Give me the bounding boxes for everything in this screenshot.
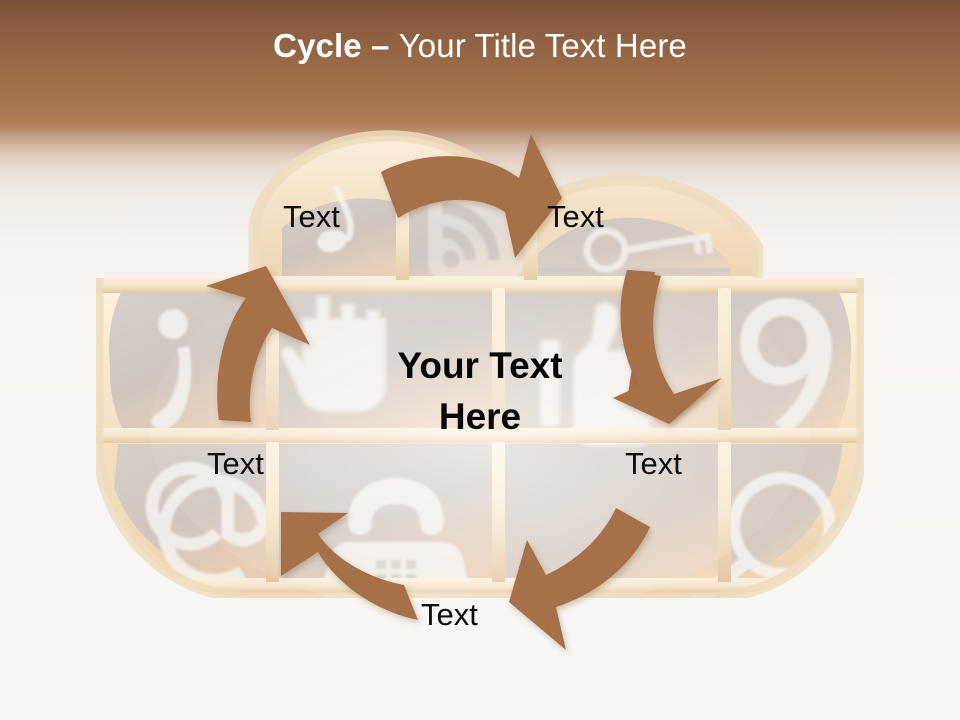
- node-label-mid-right[interactable]: Text: [625, 447, 682, 481]
- page-title-rest: Your Title Text Here: [399, 27, 687, 64]
- node-label-top-left[interactable]: Text: [283, 200, 340, 234]
- page-title: Cycle – Your Title Text Here: [273, 26, 687, 66]
- slide-canvas: Cycle – Your Title Text Here: [0, 0, 960, 720]
- node-label-top-right[interactable]: Text: [547, 200, 604, 234]
- center-text-block[interactable]: Your Text Here: [330, 340, 630, 442]
- slide-header: Cycle – Your Title Text Here: [0, 0, 960, 128]
- page-title-strong: Cycle –: [273, 27, 389, 64]
- center-text-line1: Your Text: [330, 340, 630, 391]
- node-label-mid-left[interactable]: Text: [207, 447, 264, 481]
- page-title-light: [389, 27, 398, 64]
- node-label-bottom[interactable]: Text: [421, 598, 478, 632]
- center-text-line2: Here: [330, 391, 630, 442]
